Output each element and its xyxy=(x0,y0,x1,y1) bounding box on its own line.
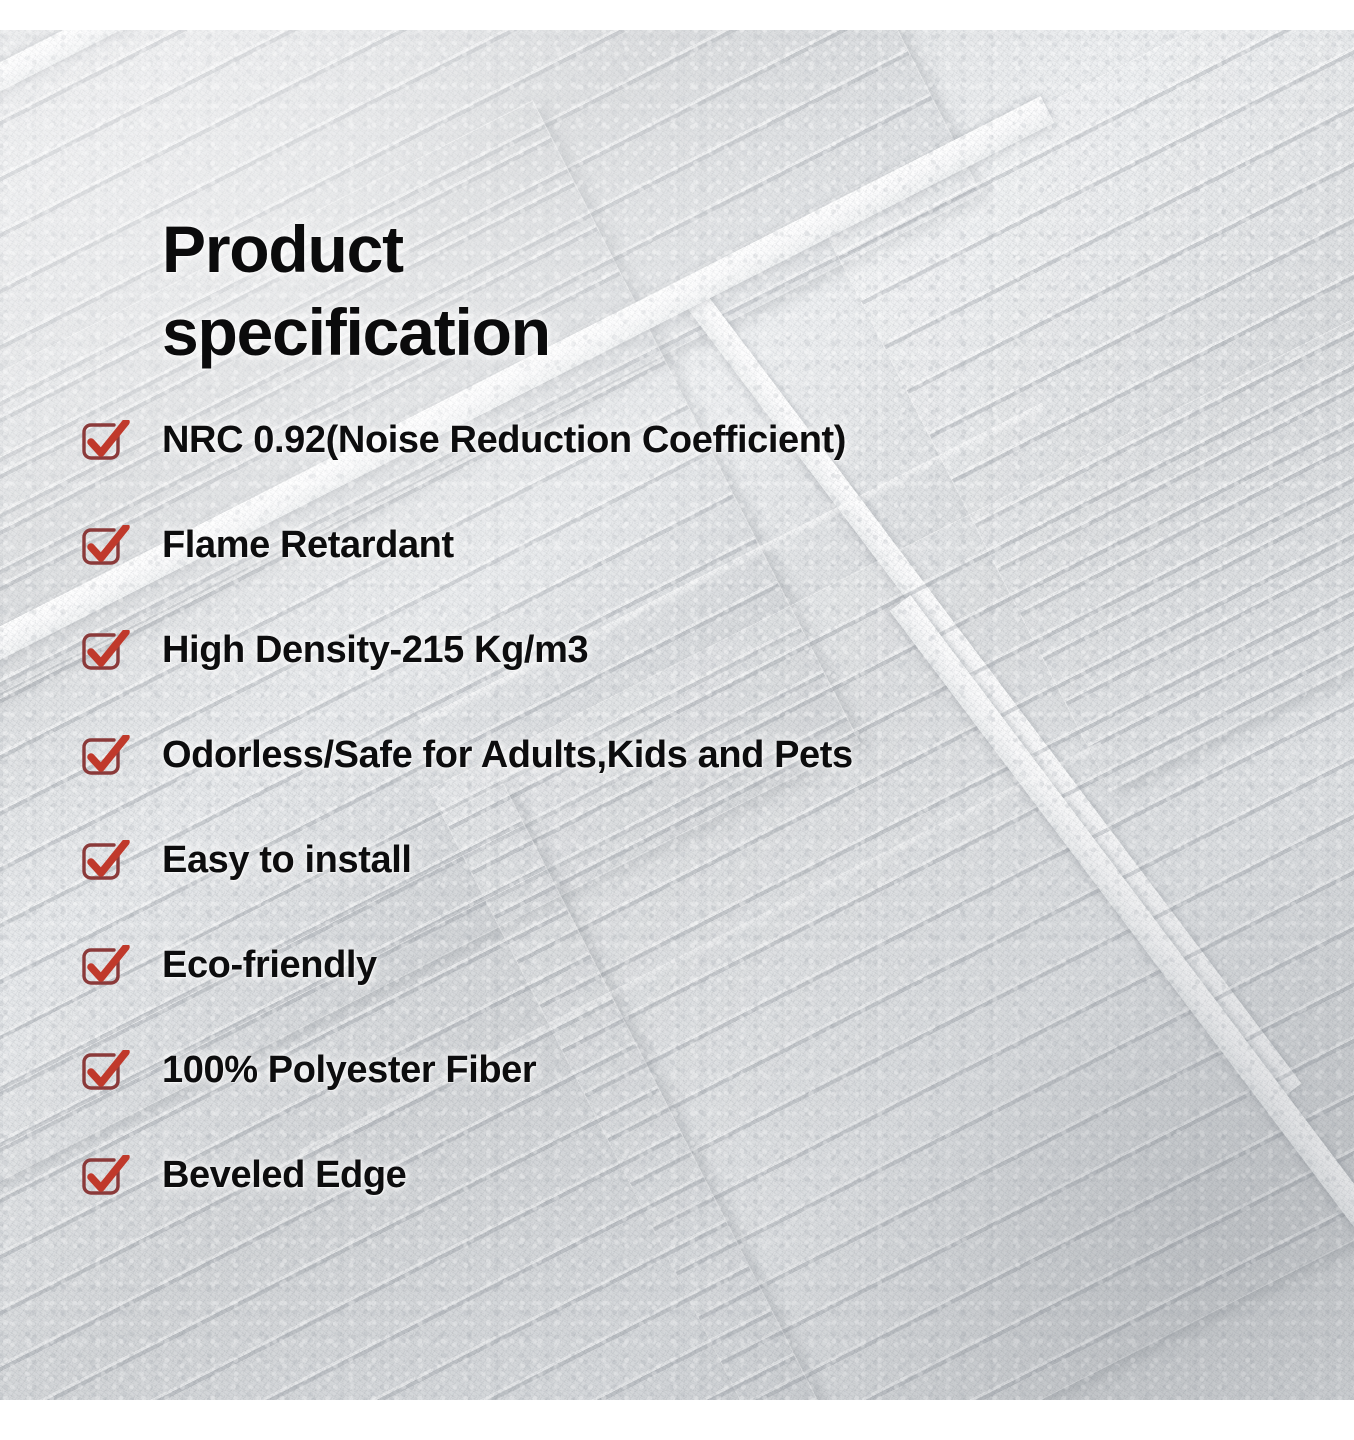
checked-checkbox-icon xyxy=(80,1050,130,1096)
spec-label: NRC 0.92(Noise Reduction Coefficient) xyxy=(162,418,846,462)
overlay-content: Product specification NRC 0.92(Noise Red… xyxy=(0,0,1354,1440)
specification-list: NRC 0.92(Noise Reduction Coefficient) Fl… xyxy=(0,418,1354,1258)
spec-label: 100% Polyester Fiber xyxy=(162,1048,536,1092)
checked-checkbox-icon xyxy=(80,735,130,781)
page-title: Product specification xyxy=(162,208,942,374)
checked-checkbox-icon xyxy=(80,420,130,466)
spec-label: Beveled Edge xyxy=(162,1153,406,1197)
spec-item-eco: Eco-friendly xyxy=(0,943,1354,1048)
spec-item-edge: Beveled Edge xyxy=(0,1153,1354,1258)
checked-checkbox-icon xyxy=(80,840,130,886)
checked-checkbox-icon xyxy=(80,945,130,991)
product-specification-page: Product specification NRC 0.92(Noise Red… xyxy=(0,0,1354,1440)
checked-checkbox-icon xyxy=(80,525,130,571)
spec-label: Flame Retardant xyxy=(162,523,454,567)
spec-item-install: Easy to install xyxy=(0,838,1354,943)
checked-checkbox-icon xyxy=(80,1155,130,1201)
spec-label: High Density-215 Kg/m3 xyxy=(162,628,588,672)
checked-checkbox-icon xyxy=(80,630,130,676)
spec-item-density: High Density-215 Kg/m3 xyxy=(0,628,1354,733)
spec-label: Eco-friendly xyxy=(162,943,377,987)
spec-item-flame: Flame Retardant xyxy=(0,523,1354,628)
spec-item-odorless: Odorless/Safe for Adults,Kids and Pets xyxy=(0,733,1354,838)
spec-label: Easy to install xyxy=(162,838,412,882)
spec-item-nrc: NRC 0.92(Noise Reduction Coefficient) xyxy=(0,418,1354,523)
spec-label: Odorless/Safe for Adults,Kids and Pets xyxy=(162,733,853,777)
spec-item-material: 100% Polyester Fiber xyxy=(0,1048,1354,1153)
